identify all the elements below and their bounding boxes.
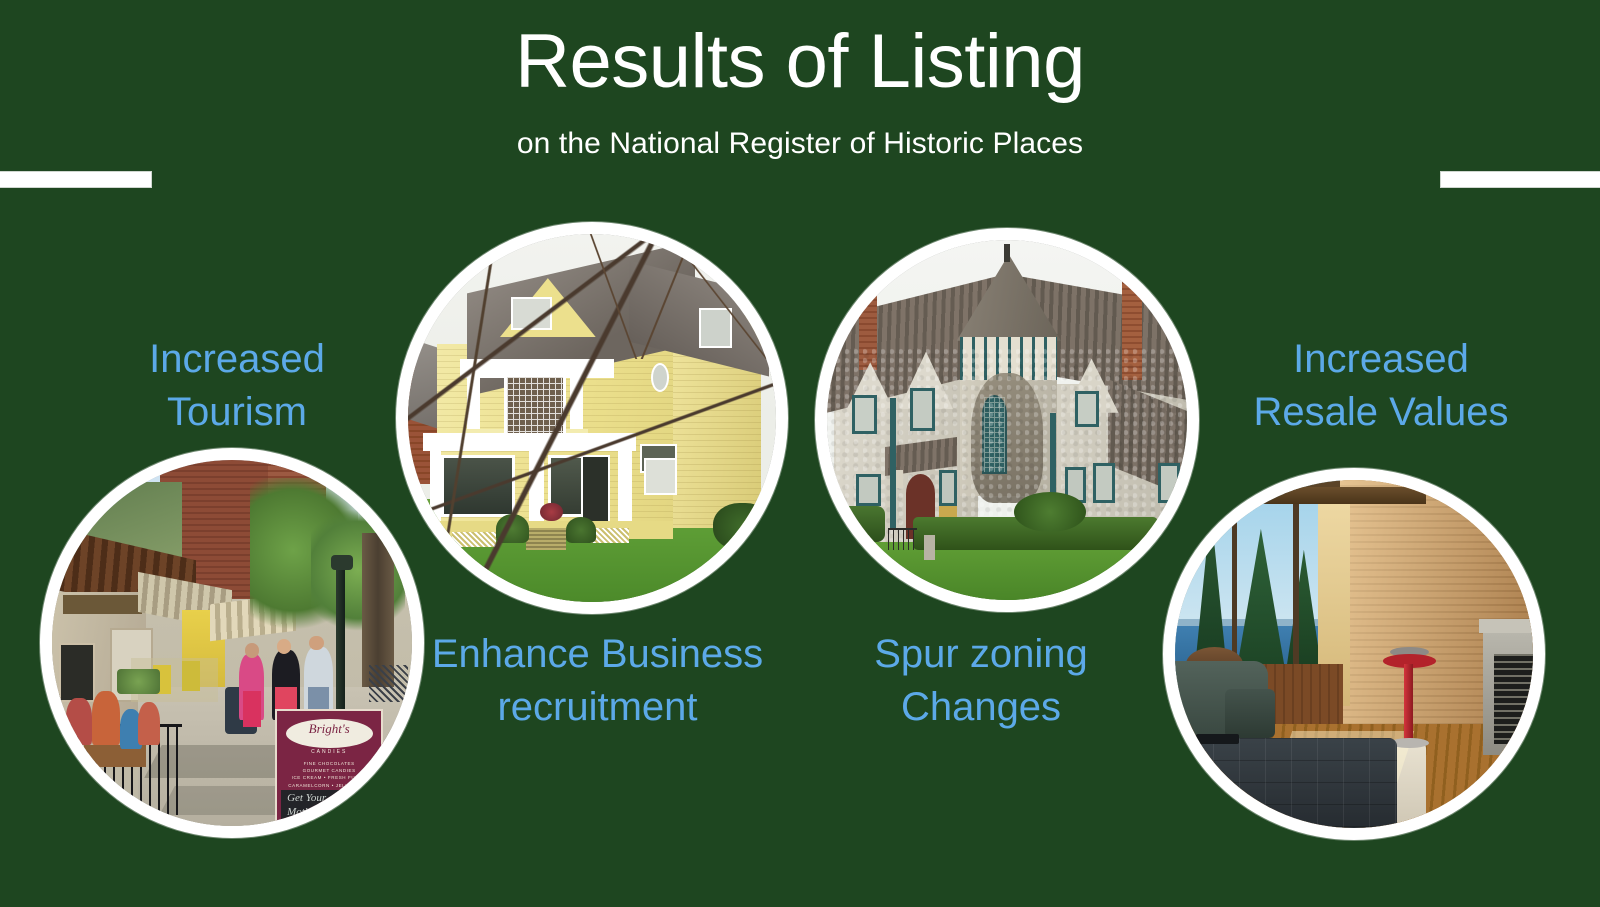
photo-circle-yellow-house — [396, 222, 788, 614]
ceiling-beam — [1175, 487, 1426, 504]
accent-bar-left — [0, 171, 152, 188]
street-lamp-head — [331, 555, 353, 570]
photo-circle-downtown-street: Bright's CANDIES FINE CHOCOLATES GOURMET… — [40, 448, 424, 838]
photo-modern-living-room — [1175, 480, 1533, 828]
table-stem — [1404, 664, 1413, 741]
bare-twigs — [555, 234, 776, 359]
window-lower-4 — [1093, 463, 1115, 503]
caption-increased-resale-values: Increased Resale Values — [1226, 333, 1536, 439]
armchair-arm — [1225, 689, 1275, 738]
historic-plaque — [939, 506, 957, 517]
photo-downtown-street: Bright's CANDIES FINE CHOCOLATES GOURMET… — [52, 460, 412, 826]
sign-product-lines: FINE CHOCOLATES GOURMET CANDIES ICE CREA… — [281, 760, 377, 790]
jewelers-signboard — [63, 595, 142, 613]
downspout-left — [890, 398, 896, 528]
accent-bar-right — [1440, 171, 1600, 188]
cafe-patron-2 — [92, 691, 121, 746]
sofa-tufting — [1175, 738, 1397, 828]
photo-circle-tudor-mansion — [815, 228, 1199, 612]
caption-spur-zoning-changes: Spur zoning Changes — [856, 628, 1106, 734]
photo-yellow-victorian-house — [408, 234, 776, 602]
brights-candies-sign: Bright's CANDIES FINE CHOCOLATES GOURMET… — [275, 709, 383, 826]
cafe-patron-1 — [66, 698, 91, 746]
foundation-bush — [1014, 492, 1086, 532]
entry-handrail — [888, 528, 917, 550]
page-subtitle: on the National Register of Historic Pla… — [0, 127, 1600, 161]
window-upper-2 — [910, 388, 935, 431]
sign-chalkboard-text: Get Your Moth Box — [287, 792, 326, 826]
page-title: Results of Listing — [0, 22, 1600, 102]
storefront-window-1 — [59, 643, 95, 702]
cafe-patron-4 — [138, 702, 160, 746]
sign-brand-text: Bright's — [277, 721, 381, 737]
pedestrian-pink-head — [245, 643, 259, 658]
slide-canvas: Results of Listing on the National Regis… — [0, 0, 1600, 907]
side-hedge — [834, 506, 884, 542]
pedestrian-grey-head — [309, 636, 323, 651]
photo-circle-modern-interior — [1163, 468, 1545, 840]
window-lower-2 — [939, 470, 957, 506]
garden-statue — [924, 535, 935, 560]
window-upper-1 — [852, 395, 877, 435]
window-lower-1 — [856, 474, 881, 506]
fireplace-grille — [1494, 654, 1533, 744]
window-upper-3 — [1075, 391, 1098, 427]
sign-chalkboard: Get Your Moth Box — [281, 790, 377, 824]
sign-subtitle-text: CANDIES — [277, 749, 381, 755]
photo-tudor-revival-mansion — [827, 240, 1187, 600]
caption-increased-tourism: Increased Tourism — [92, 333, 382, 439]
turret-finial — [1004, 244, 1009, 262]
fireplace-mantel — [1479, 619, 1533, 633]
sidewalk-planter — [117, 669, 160, 695]
remote-control — [1196, 734, 1239, 744]
pedestrian-pink-legs — [243, 691, 261, 728]
patio-chair-2 — [182, 661, 200, 690]
parked-bicycles — [369, 665, 409, 702]
caption-enhance-business: Enhance Business recruitment — [415, 628, 780, 734]
